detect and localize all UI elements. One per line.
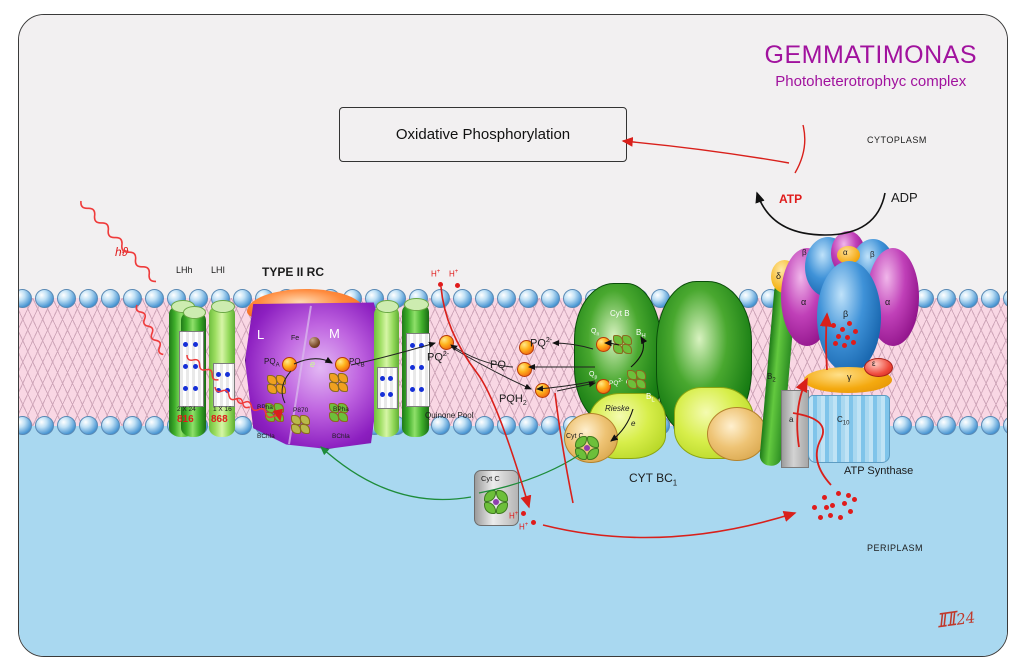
rc-bchla-right-label: BChla <box>332 433 350 440</box>
proton-dot <box>818 515 823 520</box>
bc1-qp-label: Qp <box>589 371 597 380</box>
proton-dot <box>822 495 827 500</box>
artist-signature: ℼ24 <box>934 598 977 634</box>
lipid-head <box>35 416 54 435</box>
bc1-heme-bl <box>627 370 646 389</box>
quinone-proton-1: H+ <box>431 269 440 279</box>
lipid-head <box>475 416 494 435</box>
bc1-pq2-label: PQ2- <box>609 378 623 387</box>
lipid-head <box>915 416 934 435</box>
lipid-head <box>123 289 142 308</box>
photon-label: hϑ <box>115 245 128 259</box>
lipid-head <box>123 416 142 435</box>
pq-label: PQ <box>490 359 506 371</box>
lipid-head <box>893 416 912 435</box>
proton-dot <box>853 329 858 334</box>
proton-dot <box>812 505 817 510</box>
atp-alpha-label-left: α <box>801 297 806 307</box>
pqh2-label: PQH2 <box>499 393 527 407</box>
diagram-canvas: GEMMATIMONAS Photoheterotrophyc complex … <box>0 0 1024 669</box>
bc1-qn-quinone <box>596 337 611 352</box>
quinone-proton-dot-2 <box>455 283 460 288</box>
bc1-bl-label: BL <box>646 392 655 404</box>
bc1-cytc1-right <box>707 407 767 461</box>
atp-c-ring <box>808 395 890 463</box>
proton-dot <box>852 497 857 502</box>
bc1-rieske-electron: e <box>631 419 635 428</box>
lipid-head <box>1003 289 1008 308</box>
proton-dot <box>838 515 843 520</box>
adp-substrate-label: ADP <box>891 190 918 205</box>
proton-dot <box>848 509 853 514</box>
oxphos-label: Oxidative Phosphorylation <box>396 126 570 143</box>
rc-bpha-left-pigment <box>267 375 286 394</box>
atp-synthase-name: ATP Synthase <box>844 465 913 477</box>
lipid-head <box>541 416 560 435</box>
pq-reduced-label: PQ2- <box>427 351 449 364</box>
bc1-qn-label: Qn <box>591 328 599 337</box>
proton-dot <box>842 501 847 506</box>
bc1-complex-name: CYT BC1 <box>629 471 677 487</box>
bc1-rieske-label: Rieske <box>605 404 629 413</box>
lipid-head <box>101 289 120 308</box>
atp-epsilon-label: ε <box>872 359 876 368</box>
lipid-head <box>519 416 538 435</box>
lhi-stoichiometry: 1 X 16 <box>213 406 232 413</box>
atp-beta-label-1: β <box>802 248 807 257</box>
atp-delta-label: δ <box>776 271 781 281</box>
lipid-head <box>145 289 164 308</box>
lipid-head <box>101 416 120 435</box>
lhi-label: LHI <box>211 265 225 275</box>
rc-subunit-l: L <box>257 327 264 342</box>
atp-beta-label-2: β <box>870 250 875 259</box>
lh-right-dark-pigments <box>406 333 430 407</box>
atp-b2-label: B2 <box>767 372 776 384</box>
periplasm-label: PERIPLASM <box>867 543 923 553</box>
bc1-heme-bh <box>613 335 632 354</box>
rc-pq-a-label: PQA <box>264 357 280 369</box>
lipid-head <box>937 289 956 308</box>
lipid-head <box>959 289 978 308</box>
lhh-absorption-peak: 816 <box>177 414 194 425</box>
rc-bpha-right-label: BPha <box>333 406 349 413</box>
cyt-c-label: Cyt C <box>481 474 500 483</box>
lipid-head <box>1003 416 1008 435</box>
rc-special-pair-pigment <box>291 415 310 434</box>
lhh-stoichiometry: 2 X 24 <box>177 406 196 413</box>
rc-pq-b-label: PQB <box>349 357 365 369</box>
lipid-head <box>453 289 472 308</box>
periplasm-proton-dot-1 <box>521 511 526 516</box>
proton-dot <box>845 335 850 340</box>
quinone-proton-dot-1 <box>438 282 443 287</box>
atp-beta-label-central: β <box>843 309 848 319</box>
proton-dot <box>847 321 852 326</box>
lhi-pigment-ring <box>213 363 235 407</box>
proton-dot <box>836 491 841 496</box>
lhh-pigment-ring <box>179 331 204 407</box>
lipid-head <box>233 416 252 435</box>
lipid-head <box>981 416 1000 435</box>
periplasm-proton-dot-2 <box>531 520 536 525</box>
rc-special-pair-label: P870 <box>293 407 308 414</box>
proton-dot <box>846 493 851 498</box>
lh-right-light-pigments <box>377 367 398 409</box>
lipid-head <box>18 289 32 308</box>
atp-alpha-label-top: α <box>843 248 848 257</box>
lhi-absorption-peak: 868 <box>211 414 228 425</box>
lipid-head <box>79 289 98 308</box>
diagram-frame: GEMMATIMONAS Photoheterotrophyc complex … <box>18 14 1008 657</box>
oxidative-phosphorylation-box: Oxidative Phosphorylation <box>339 107 627 162</box>
quinone-pool-label: Quinone Pool <box>425 411 473 420</box>
pq-semi-label: PQ2- <box>530 337 552 350</box>
atp-subunit-a-label: a <box>789 415 793 424</box>
proton-dot <box>833 341 838 346</box>
atp-c-ring-label: C10 <box>837 415 849 427</box>
atp-beta-central <box>817 261 881 373</box>
periplasm-proton-label-2: H+ <box>519 522 528 532</box>
proton-dot <box>831 323 836 328</box>
quinone-pqh2 <box>535 383 550 398</box>
proton-dot <box>824 505 829 510</box>
title-sub: Photoheterotrophyc complex <box>765 73 977 90</box>
proton-dot <box>840 327 845 332</box>
atp-alpha-label-right: α <box>885 297 890 307</box>
lipid-head <box>959 416 978 435</box>
atp-product-label: ATP <box>779 192 802 206</box>
atp-gamma-label: γ <box>847 372 852 382</box>
lhh-label: LHh <box>176 265 193 275</box>
proton-dot <box>842 343 847 348</box>
lipid-head <box>431 289 450 308</box>
cyt-c-heme <box>483 489 509 515</box>
bc1-heme-c1 <box>574 435 600 461</box>
lipid-head <box>57 289 76 308</box>
rc-bchla-left-label: BChla <box>257 433 275 440</box>
quinone-proton-2: H+ <box>449 269 458 279</box>
rc-electron-label: e <box>310 359 315 369</box>
atp-epsilon-subunit <box>864 358 893 377</box>
proton-dot <box>851 340 856 345</box>
rc-iron-label: Fe <box>291 335 299 342</box>
lipid-head <box>937 416 956 435</box>
lipid-head <box>541 289 560 308</box>
proton-dot <box>836 334 841 339</box>
rc-pq-a-quinone <box>282 357 297 372</box>
lipid-head <box>497 289 516 308</box>
rc-iron-atom <box>309 337 320 348</box>
quinone-pq-reduced <box>439 335 454 350</box>
rc-bpha-left-label: BPha <box>257 404 273 411</box>
lipid-head <box>519 289 538 308</box>
rc-title: TYPE II RC <box>262 265 324 279</box>
lipid-head <box>18 416 32 435</box>
lipid-head <box>145 416 164 435</box>
lipid-head <box>35 289 54 308</box>
rc-bpha-right-pigment <box>329 373 348 392</box>
lipid-head <box>475 289 494 308</box>
lipid-head <box>79 416 98 435</box>
cytoplasm-label: CYTOPLASM <box>867 135 927 145</box>
proton-dot <box>830 503 835 508</box>
rc-subunit-m: M <box>329 326 340 341</box>
atp-subunit-a <box>781 390 809 468</box>
periplasm-proton-label-1: H+ <box>509 511 518 521</box>
bc1-bh-label: BH <box>636 328 646 340</box>
lipid-head <box>981 289 1000 308</box>
title-main: GEMMATIMONAS <box>765 41 977 70</box>
lipid-head <box>57 416 76 435</box>
rc-pq-b-quinone <box>335 357 350 372</box>
lipid-head <box>563 289 582 308</box>
lipid-head <box>497 416 516 435</box>
quinone-pq <box>517 362 532 377</box>
type-ii-reaction-center <box>245 301 382 449</box>
bc1-cytb-label: Cyt B <box>610 309 630 318</box>
proton-dot <box>828 513 833 518</box>
diagram-title: GEMMATIMONAS Photoheterotrophyc complex <box>765 41 977 90</box>
